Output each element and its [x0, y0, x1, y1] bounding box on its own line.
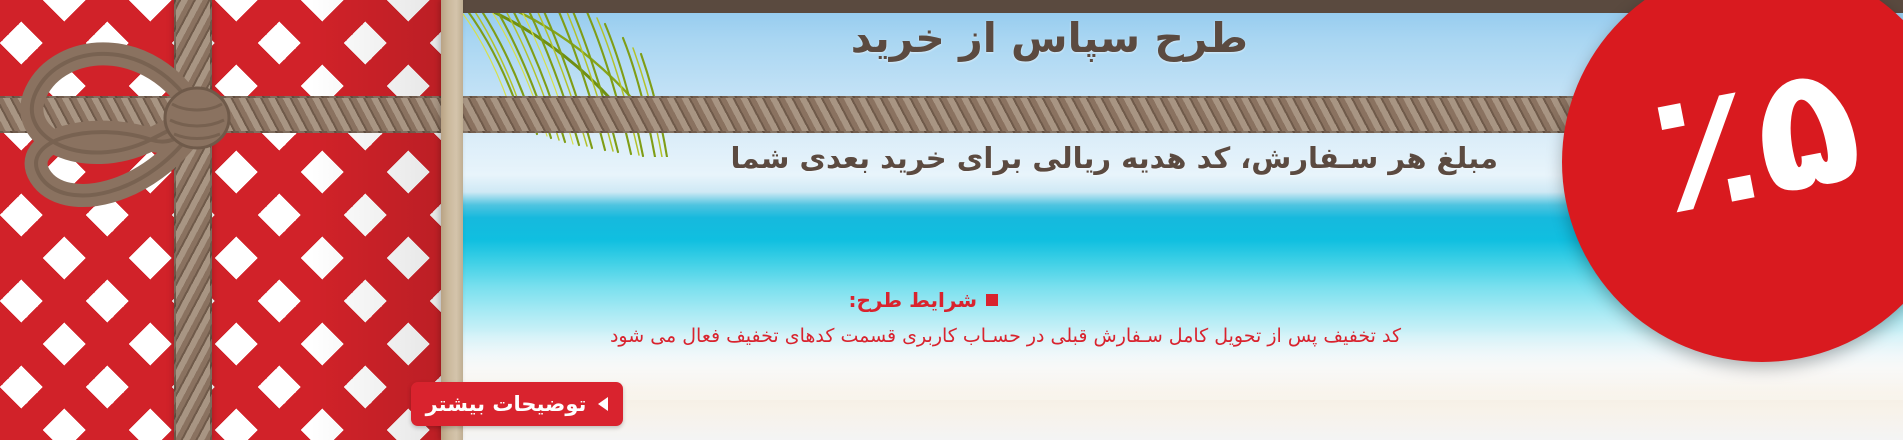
gift-wrap-panel: [0, 0, 443, 440]
promo-banner: طرح سپاس از خرید مبلغ هر سـفارش، کد هدیه…: [0, 0, 1903, 440]
chevron-left-icon: [598, 397, 608, 411]
more-details-button[interactable]: توضیحات بیشتر: [411, 382, 623, 426]
discount-badge-value: ٪۵: [1639, 36, 1872, 240]
rope-bow-icon: [0, 0, 443, 340]
more-details-label: توضیحات بیشتر: [426, 392, 587, 416]
banner-title: طرح سپاس از خرید: [851, 14, 1248, 62]
square-bullet-icon: [986, 294, 998, 306]
banner-subtitle: مبلغ هر سـفارش، کد هدیه ریالی برای خرید …: [731, 141, 1499, 175]
conditions-heading-label: شرایط طرح:: [848, 288, 977, 312]
tan-divider-strip: [441, 0, 463, 440]
conditions-heading: شرایط طرح:: [848, 288, 998, 312]
conditions-description: کد تخفیف پس از تحویل کامل سـفارش قبلی در…: [610, 325, 1401, 347]
palm-frond-icon: [443, 0, 743, 157]
